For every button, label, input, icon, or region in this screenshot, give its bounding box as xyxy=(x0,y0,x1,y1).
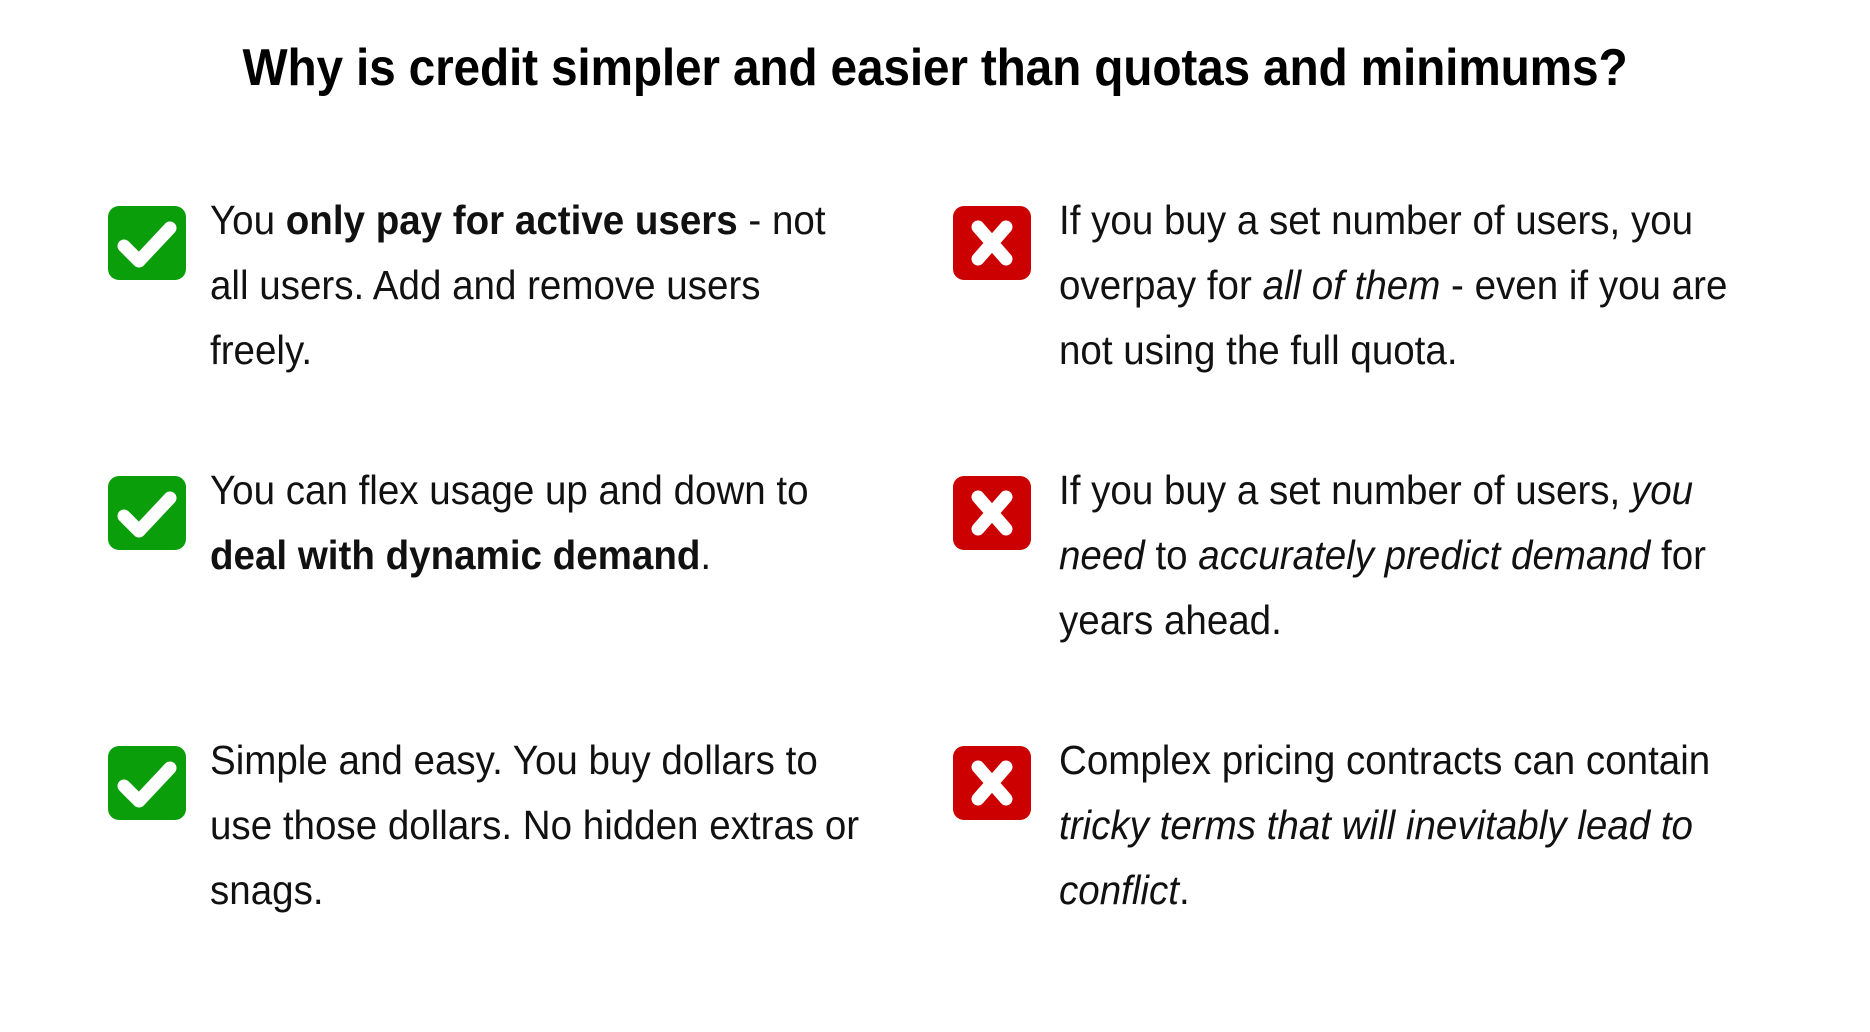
cross-icon xyxy=(953,206,1031,280)
check-icon xyxy=(108,206,186,280)
list-item-text: Simple and easy. You buy dollars to use … xyxy=(210,728,863,923)
list-item: Simple and easy. You buy dollars to use … xyxy=(108,728,905,948)
list-item-text: You only pay for active users - not all … xyxy=(210,188,863,383)
list-item: You can flex usage up and down to deal w… xyxy=(108,458,905,678)
list-item-text: You can flex usage up and down to deal w… xyxy=(210,458,863,588)
list-item-text: If you buy a set number of users, you ne… xyxy=(1059,458,1784,653)
check-icon xyxy=(108,746,186,820)
list-item: If you buy a set number of users, you ne… xyxy=(953,458,1830,678)
comparison-slide: Why is credit simpler and easier than qu… xyxy=(0,0,1870,1032)
list-item: You only pay for active users - not all … xyxy=(108,188,905,408)
list-item: Complex pricing contracts can contain tr… xyxy=(953,728,1830,948)
cons-column: If you buy a set number of users, you ov… xyxy=(935,188,1870,948)
list-item-text: Complex pricing contracts can contain tr… xyxy=(1059,728,1784,923)
page-title: Why is credit simpler and easier than qu… xyxy=(75,38,1795,98)
pros-column: You only pay for active users - not all … xyxy=(0,188,935,948)
comparison-columns: You only pay for active users - not all … xyxy=(0,188,1870,948)
cross-icon xyxy=(953,746,1031,820)
check-icon xyxy=(108,476,186,550)
list-item: If you buy a set number of users, you ov… xyxy=(953,188,1830,408)
cross-icon xyxy=(953,476,1031,550)
list-item-text: If you buy a set number of users, you ov… xyxy=(1059,188,1784,383)
